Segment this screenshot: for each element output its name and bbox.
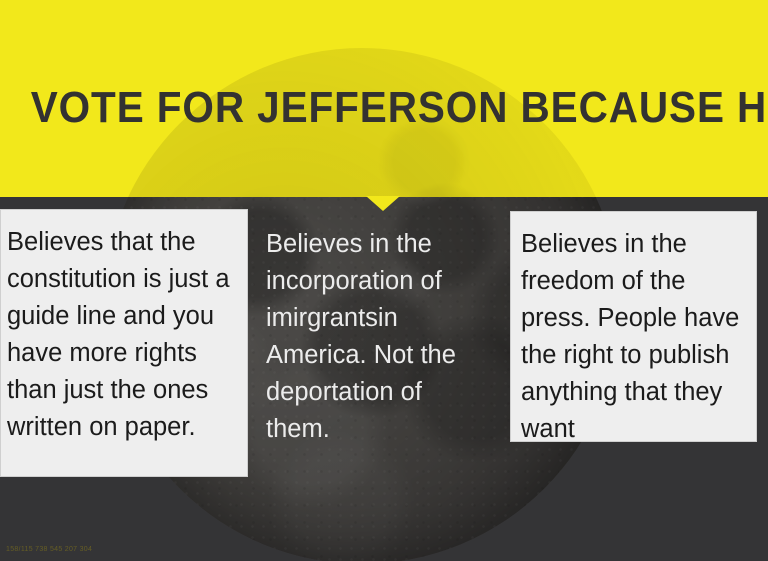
presentation-slide: VOTE FOR JEFFERSON BECAUSE HE: Believes …	[0, 0, 768, 561]
statement-card-press-freedom: Believes in the freedom of the press. Pe…	[510, 211, 757, 442]
slide-title: VOTE FOR JEFFERSON BECAUSE HE:	[31, 83, 738, 133]
statement-text-immigration: Believes in the incorporation of imirgra…	[266, 226, 492, 448]
statement-overlay-immigration: Believes in the incorporation of imirgra…	[260, 212, 498, 442]
statement-card-constitution: Believes that the constitution is just a…	[0, 209, 248, 477]
statement-text-constitution: Believes that the constitution is just a…	[7, 224, 239, 446]
statement-text-press-freedom: Believes in the freedom of the press. Pe…	[521, 226, 748, 448]
band-triangle-notch-icon	[366, 196, 400, 211]
image-attribution-footnote: 158/115 738 545 207 304	[6, 546, 92, 553]
